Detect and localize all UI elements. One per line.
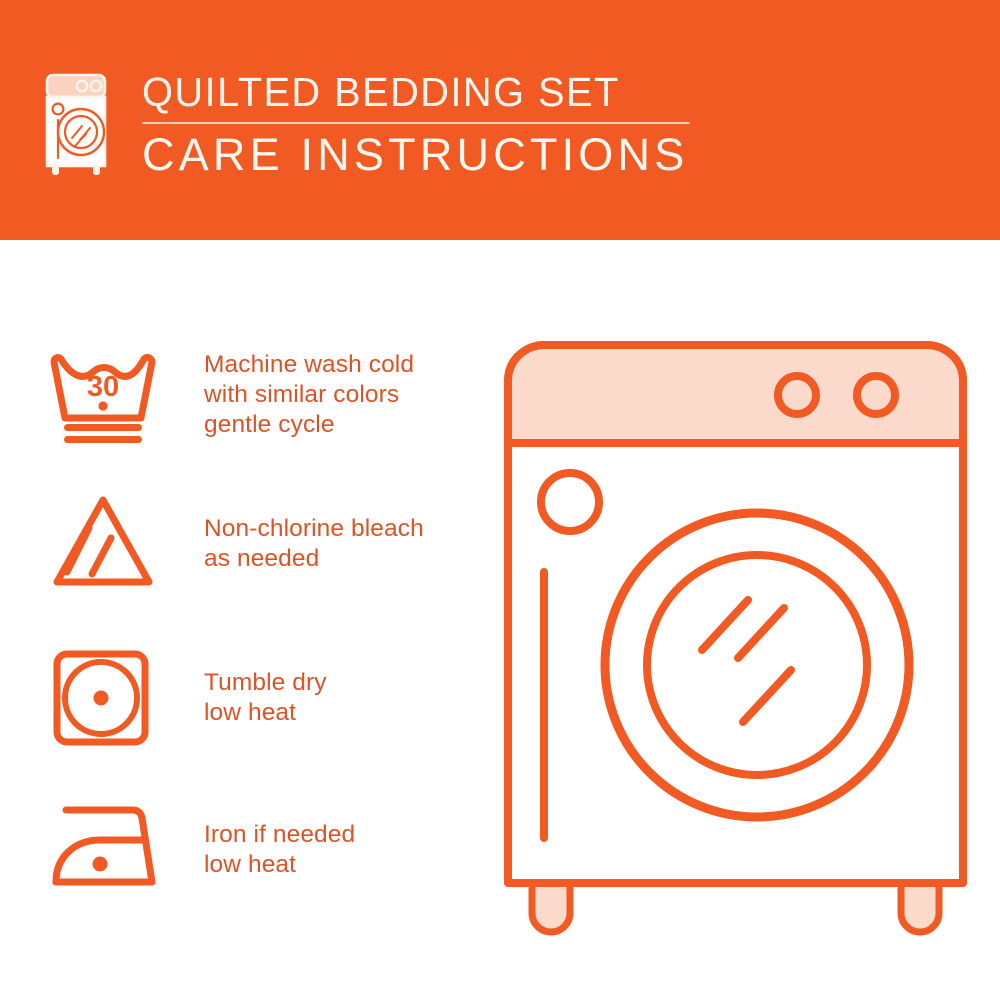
- care-item-tumble-dry: Tumble dry low heat: [48, 648, 488, 758]
- iron-icon: [48, 798, 168, 908]
- care-item-label: Machine wash cold with similar colors ge…: [168, 348, 414, 440]
- header-divider: [142, 122, 690, 124]
- wash-tub-icon: 30: [48, 348, 168, 458]
- page-title: QUILTED BEDDING SET: [142, 68, 685, 116]
- care-item-bleach: Non-chlorine bleach as needed: [48, 492, 488, 602]
- large-washing-machine-illustration: [495, 330, 975, 940]
- care-item-iron: Iron if needed low heat: [48, 798, 488, 908]
- tumble-dry-icon: [48, 648, 168, 758]
- wash-temperature-label: 30: [87, 371, 119, 403]
- care-item-machine-wash: 30 Machine wash cold with similar colors…: [48, 348, 488, 458]
- care-item-label: Iron if needed low heat: [168, 798, 355, 880]
- header-text-block: QUILTED BEDDING SET CARE INSTRUCTIONS: [142, 68, 702, 182]
- washing-machine-icon: [44, 72, 108, 178]
- care-item-label: Tumble dry low heat: [168, 648, 327, 728]
- header-banner: QUILTED BEDDING SET CARE INSTRUCTIONS: [0, 0, 1000, 240]
- page-subtitle: CARE INSTRUCTIONS: [142, 128, 702, 182]
- care-instructions-list: 30 Machine wash cold with similar colors…: [0, 240, 500, 1000]
- bleach-triangle-icon: [48, 492, 168, 602]
- care-item-label: Non-chlorine bleach as needed: [168, 492, 424, 574]
